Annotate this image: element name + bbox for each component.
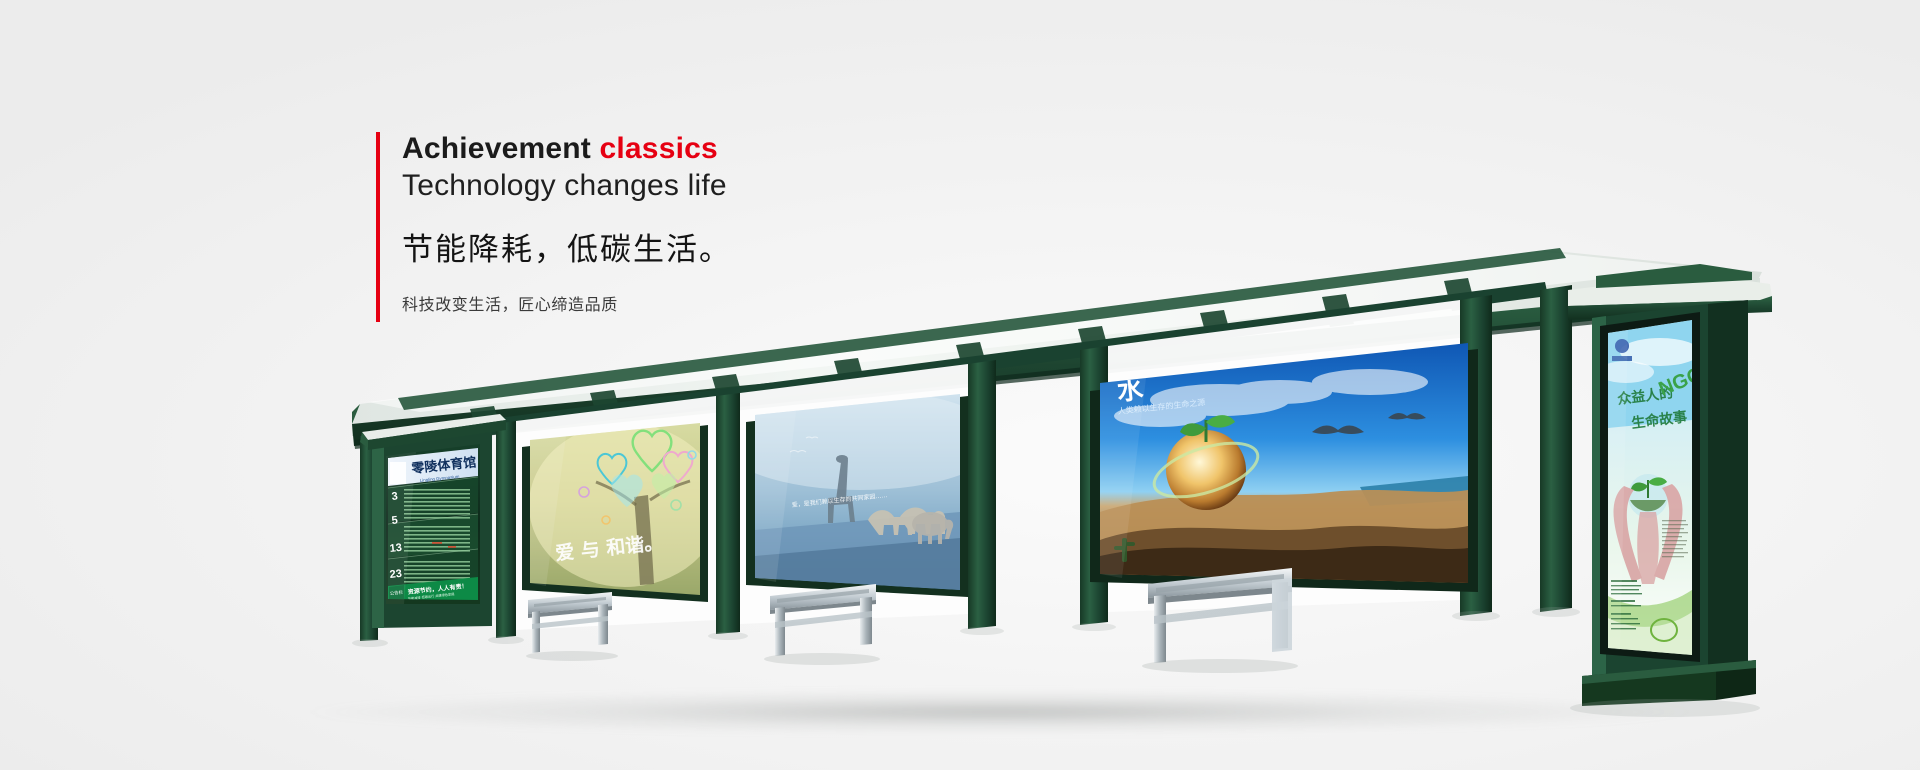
panel-lightbox-2[interactable]: 爱，是我们赖以生存的共同家园……: [720, 390, 1000, 597]
bench-2-leg-right: [860, 597, 872, 645]
tower-unit[interactable]: 众益人的 NGO 生命故事: [1568, 264, 1772, 706]
bench-3-shadow: [1142, 659, 1298, 673]
bench-1-shadow: [526, 651, 618, 661]
bench-2-leg-left: [775, 607, 785, 656]
bench-2-shadow: [764, 653, 880, 665]
bench-2[interactable]: [764, 584, 880, 665]
post-3: [716, 393, 740, 634]
panel-lightbox-1[interactable]: 爱 与 和谐。: [522, 423, 721, 602]
bench-3-leg-left: [1154, 595, 1166, 663]
post-2: [496, 421, 516, 638]
bench-3[interactable]: [1142, 568, 1298, 673]
banner-stage: Achievement classics Technology changes …: [0, 0, 1920, 770]
post-7: [1540, 285, 1572, 612]
bench-1-leg-left: [532, 611, 540, 653]
bus-shelter: 零陵体育馆 Lingling Gymnasium 3 5 13 23: [0, 0, 1920, 770]
timetable-cabinet-highlight: [372, 438, 384, 628]
panel-timetable[interactable]: 零陵体育馆 Lingling Gymnasium 3 5 13 23: [360, 414, 506, 628]
bench-3-armrest: [1272, 578, 1292, 652]
panel-lightbox-3[interactable]: 水 人类赖以生存的生命之源: [1090, 343, 1478, 592]
tower-body-side: [1708, 300, 1748, 690]
post-4: [968, 360, 996, 629]
bench-1-leg-right: [598, 604, 608, 645]
